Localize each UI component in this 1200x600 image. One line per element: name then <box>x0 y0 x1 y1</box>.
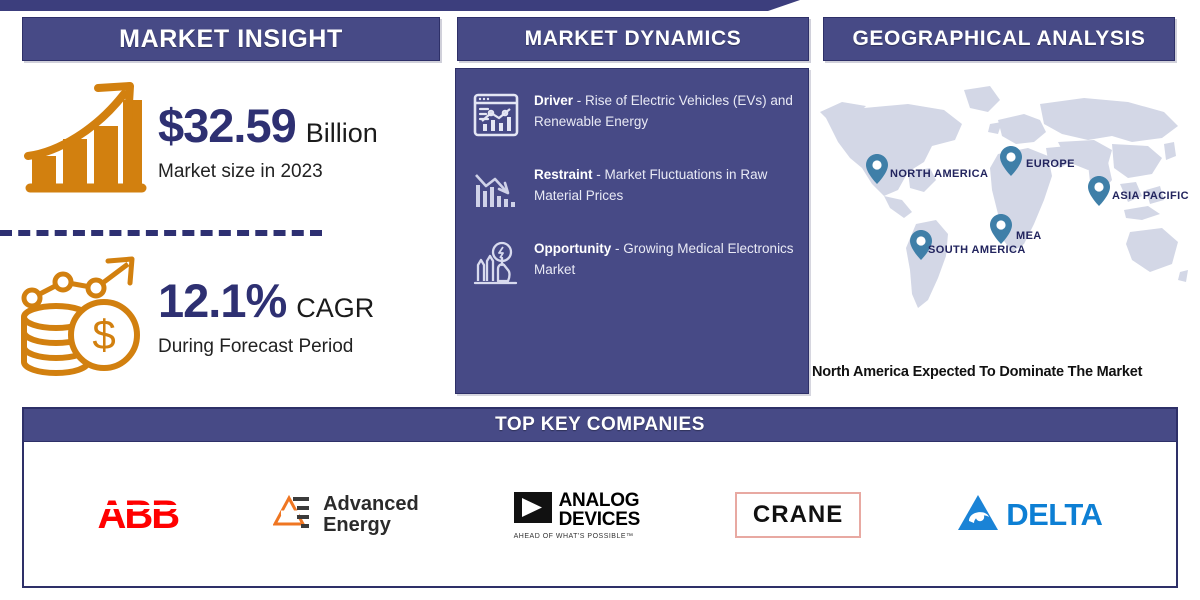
analog-devices-line2: DEVICES <box>559 509 640 530</box>
advanced-energy-line2: Energy <box>323 514 391 536</box>
cagr-row: $ 12.1% CAGR During Forecast Period <box>8 245 440 390</box>
logo-delta[interactable]: DELTA <box>956 480 1102 550</box>
top-key-companies-title: TOP KEY COMPANIES <box>495 414 705 436</box>
coins-growth-icon: $ <box>8 255 158 380</box>
dynamics-opportunity-label: Opportunity <box>534 241 611 256</box>
world-map: NORTH AMERICA EUROPE ASIA PACIFIC MEA SO… <box>812 72 1190 362</box>
top-key-companies-panel: TOP KEY COMPANIES ABB <box>22 407 1178 588</box>
logo-abb[interactable]: ABB <box>97 480 178 550</box>
logo-advanced-energy[interactable]: Advanced Energy <box>273 480 419 550</box>
market-dynamics-title: MARKET DYNAMICS <box>525 27 742 51</box>
delta-mark-icon <box>956 493 1000 538</box>
market-size-unit: Billion <box>306 118 378 149</box>
dynamics-restraint-separator: - <box>593 167 605 182</box>
analog-devices-mark-icon <box>514 492 552 528</box>
geo-label-mea: MEA <box>1016 230 1042 242</box>
market-size-row: $32.59 Billion Market size in 2023 <box>8 62 440 222</box>
dynamics-opportunity-text: Opportunity - Growing Medical Electronic… <box>534 237 794 289</box>
dashboard-analytics-icon <box>470 89 522 141</box>
logo-analog-devices[interactable]: ANALOG DEVICES AHEAD OF WHAT'S POSSIBLE™ <box>514 480 640 550</box>
top-decorative-banner <box>0 0 800 11</box>
cagr-stat: 12.1% CAGR During Forecast Period <box>158 277 440 358</box>
opportunity-hand-idea-icon <box>470 237 522 289</box>
abb-wordmark: ABB <box>97 493 178 538</box>
dynamics-driver-separator: - <box>573 93 585 108</box>
logo-crane[interactable]: CRANE <box>735 480 861 550</box>
geo-label-north-america: NORTH AMERICA <box>890 168 988 180</box>
dynamics-opportunity-separator: - <box>611 241 623 256</box>
market-size-value: $32.59 <box>158 102 296 149</box>
geographical-analysis-title: GEOGRAPHICAL ANALYSIS <box>852 27 1145 51</box>
infographic-canvas: MARKET INSIGHT $32.59 Billion Market siz… <box>0 0 1200 600</box>
crane-wordmark: CRANE <box>753 501 843 528</box>
market-dynamics-box: Driver - Rise of Electric Vehicles (EVs)… <box>455 68 809 394</box>
analog-devices-wordmark: ANALOG DEVICES <box>559 491 640 529</box>
cagr-unit: CAGR <box>296 293 374 324</box>
dynamics-driver-label: Driver <box>534 93 573 108</box>
geography-caption: North America Expected To Dominate The M… <box>812 364 1192 380</box>
advanced-energy-line1: Advanced <box>323 493 419 515</box>
market-insight-header: MARKET INSIGHT <box>22 17 440 61</box>
dynamics-item-driver: Driver - Rise of Electric Vehicles (EVs)… <box>470 89 794 141</box>
dynamics-restraint-text: Restraint - Market Fluctuations in Raw M… <box>534 163 794 215</box>
map-pin-asia-pacific[interactable] <box>1088 176 1110 211</box>
dynamics-driver-text: Driver - Rise of Electric Vehicles (EVs)… <box>534 89 794 141</box>
delta-wordmark: DELTA <box>1006 497 1102 533</box>
dynamics-item-opportunity: Opportunity - Growing Medical Electronic… <box>470 237 794 289</box>
map-pin-north-america[interactable] <box>866 154 888 189</box>
bar-chart-growth-icon <box>8 82 158 202</box>
insight-divider <box>0 230 322 236</box>
market-size-stat: $32.59 Billion Market size in 2023 <box>158 102 440 183</box>
top-key-companies-header: TOP KEY COMPANIES <box>24 409 1176 442</box>
cagr-caption: During Forecast Period <box>158 336 440 358</box>
advanced-energy-wordmark: Advanced Energy <box>323 494 419 536</box>
declining-bar-chart-icon <box>470 163 522 215</box>
geo-label-south-america: SOUTH AMERICA <box>928 244 1026 256</box>
map-pin-europe[interactable] <box>1000 146 1022 181</box>
geographical-analysis-header: GEOGRAPHICAL ANALYSIS <box>823 17 1175 61</box>
svg-text:$: $ <box>92 311 115 358</box>
market-dynamics-header: MARKET DYNAMICS <box>457 17 809 61</box>
geo-label-asia-pacific: ASIA PACIFIC <box>1112 190 1189 202</box>
cagr-value: 12.1% <box>158 277 286 324</box>
market-insight-title: MARKET INSIGHT <box>119 25 343 54</box>
geo-label-europe: EUROPE <box>1026 158 1075 170</box>
analog-devices-tagline: AHEAD OF WHAT'S POSSIBLE™ <box>514 533 634 540</box>
company-logo-strip: ABB Advanced Energy <box>24 442 1176 588</box>
dynamics-item-restraint: Restraint - Market Fluctuations in Raw M… <box>470 163 794 215</box>
analog-devices-line1: ANALOG <box>559 490 640 511</box>
advanced-energy-mark-icon <box>273 494 315 537</box>
market-size-caption: Market size in 2023 <box>158 161 440 183</box>
dynamics-restraint-label: Restraint <box>534 167 593 182</box>
